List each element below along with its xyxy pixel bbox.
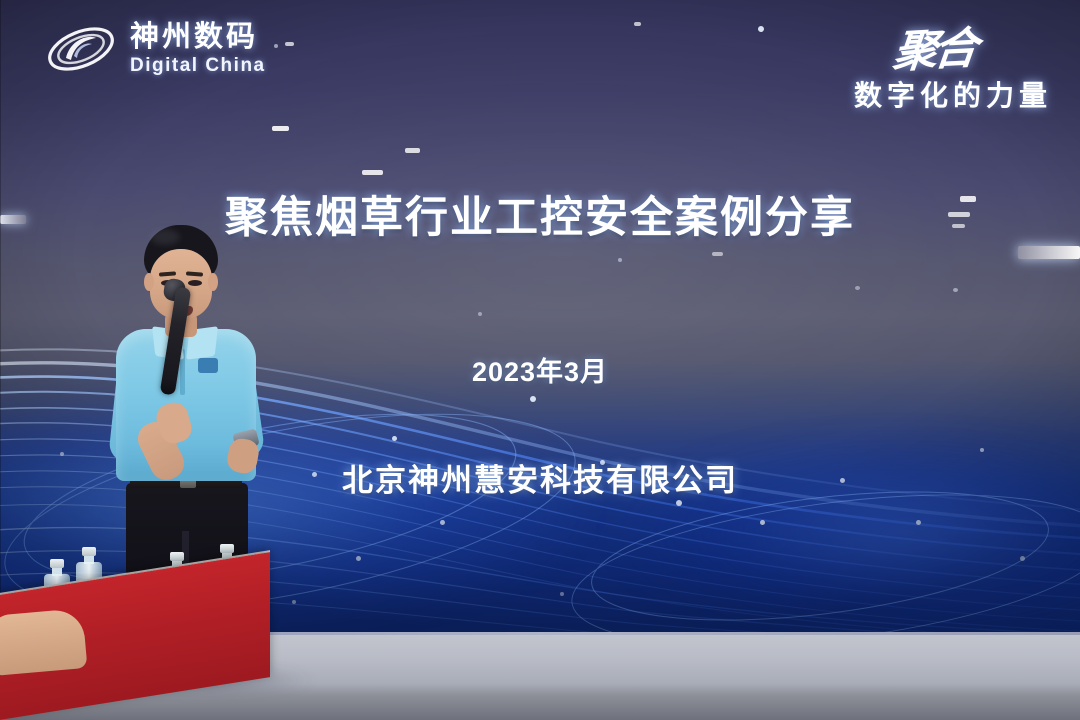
slogan-subtitle: 数字化的力量 bbox=[854, 74, 1052, 114]
slogan-calligraphy: 聚合 bbox=[890, 12, 977, 80]
event-slogan: 聚合 数字化的力量 bbox=[854, 14, 1052, 114]
speaker-ear-right bbox=[208, 273, 218, 291]
speaker-eye-right bbox=[188, 280, 202, 286]
screen-left-edge bbox=[0, 0, 1, 632]
digital-china-logo: 神州数码 Digital China bbox=[44, 18, 266, 80]
logo-name-cn: 神州数码 bbox=[130, 23, 266, 52]
seated-attendee bbox=[0, 608, 87, 676]
logo-text: 神州数码 Digital China bbox=[130, 23, 266, 75]
swirl-logo-icon bbox=[44, 18, 118, 80]
speaker-ear-left bbox=[144, 273, 154, 291]
speaker-shirt-logo bbox=[198, 358, 218, 373]
screenshot-root: 神州数码 Digital China 聚合 数字化的力量 聚焦烟草行业工控安全案… bbox=[0, 0, 1080, 720]
logo-name-en: Digital China bbox=[130, 56, 266, 75]
light-bar-right bbox=[1018, 246, 1080, 259]
